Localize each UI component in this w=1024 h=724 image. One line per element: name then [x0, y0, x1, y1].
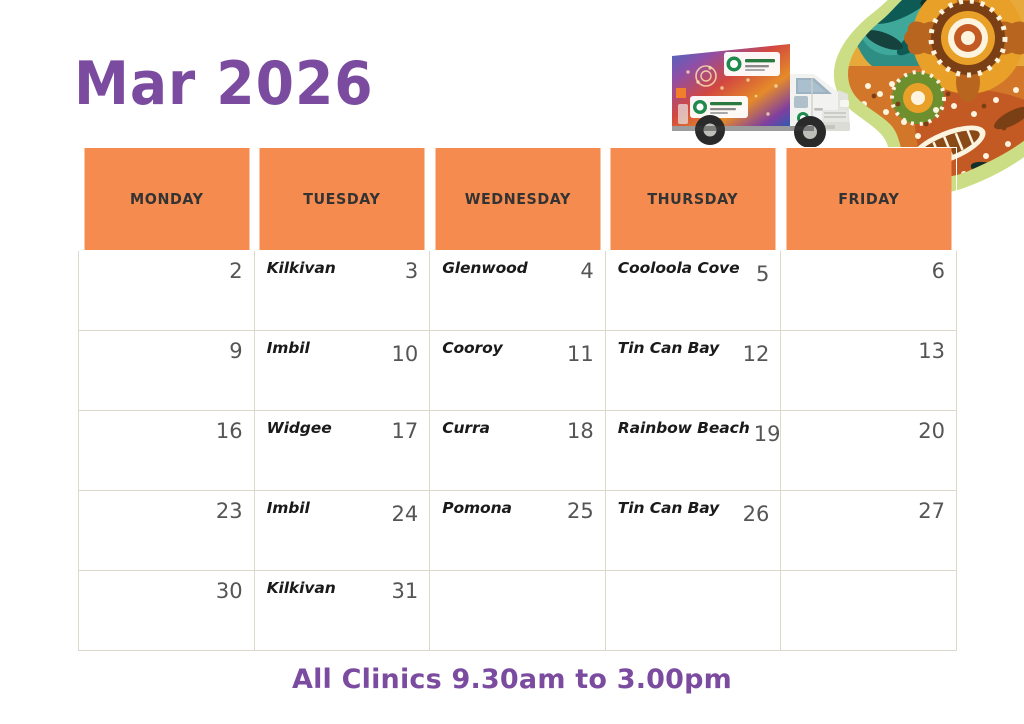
weekday-header-row: MONDAY TUESDAY WEDNESDAY THURSDAY FRIDAY: [79, 148, 957, 251]
weekday-header-wednesday: WEDNESDAY: [434, 148, 601, 251]
page-title: Mar 2026: [74, 54, 374, 114]
day-cell[interactable]: 9: [79, 331, 255, 411]
weekday-header-monday: MONDAY: [83, 148, 250, 251]
weekday-header-thursday: THURSDAY: [610, 148, 777, 251]
day-number: 12: [743, 340, 770, 365]
day-cell[interactable]: Imbil 24: [254, 491, 430, 571]
calendar-week-row: 30 Kilkivan 31: [79, 571, 957, 651]
day-event-label: Kilkivan: [267, 580, 336, 597]
day-number: 18: [567, 420, 594, 442]
day-cell[interactable]: Rainbow Beach 19: [605, 411, 781, 491]
day-event-label: Kilkivan: [267, 260, 336, 277]
day-number: 11: [567, 340, 594, 365]
mobile-clinic-truck-image: [662, 22, 862, 162]
day-event-label: Cooroy: [442, 340, 502, 357]
day-cell[interactable]: Tin Can Bay 26: [605, 491, 781, 571]
calendar-page: Mar 2026 MONDAY TUESDAY WEDNESDAY THURSD…: [0, 0, 1024, 724]
day-cell[interactable]: Curra 18: [430, 411, 606, 491]
day-cell[interactable]: Widgee 17: [254, 411, 430, 491]
day-event-label: Pomona: [442, 500, 512, 517]
day-cell[interactable]: 20: [781, 411, 957, 491]
day-cell[interactable]: Imbil 10: [254, 331, 430, 411]
day-number: 19: [754, 420, 781, 445]
calendar-grid: MONDAY TUESDAY WEDNESDAY THURSDAY FRIDAY…: [78, 147, 957, 651]
day-number: 2: [229, 260, 242, 282]
weekday-header-friday: FRIDAY: [785, 148, 952, 251]
day-number: 9: [229, 340, 242, 362]
day-number: 3: [405, 260, 418, 282]
day-number: 5: [756, 260, 769, 285]
day-number: 13: [918, 340, 945, 362]
day-number: 10: [391, 340, 418, 365]
day-number: 17: [391, 420, 418, 442]
day-number: 20: [918, 420, 945, 442]
day-cell[interactable]: Cooloola Cove 5: [605, 251, 781, 331]
day-cell[interactable]: 2: [79, 251, 255, 331]
day-cell[interactable]: 16: [79, 411, 255, 491]
day-number: 27: [918, 500, 945, 522]
day-cell[interactable]: 6: [781, 251, 957, 331]
weekday-header-tuesday: TUESDAY: [258, 148, 425, 251]
day-event-label: Glenwood: [442, 260, 528, 277]
day-number: 30: [216, 580, 243, 602]
day-cell[interactable]: Cooroy 11: [430, 331, 606, 411]
clinic-hours-note: All Clinics 9.30am to 3.00pm: [0, 664, 1024, 695]
day-cell[interactable]: 27: [781, 491, 957, 571]
day-number: 25: [567, 500, 594, 522]
day-cell[interactable]: 13: [781, 331, 957, 411]
calendar-week-row: 23 Imbil 24 Pomona 25: [79, 491, 957, 571]
day-cell[interactable]: [430, 571, 606, 651]
day-number: 16: [216, 420, 243, 442]
day-event-label: Rainbow Beach: [618, 420, 750, 437]
calendar-week-row: 2 Kilkivan 3 Glenwood 4: [79, 251, 957, 331]
day-event-label: Imbil: [267, 340, 310, 357]
day-cell[interactable]: Tin Can Bay 12: [605, 331, 781, 411]
day-event-label: Tin Can Bay: [618, 340, 719, 357]
day-event-label: Cooloola Cove: [618, 260, 740, 277]
day-cell[interactable]: Kilkivan 3: [254, 251, 430, 331]
day-event-label: Widgee: [267, 420, 332, 437]
day-number: 24: [391, 500, 418, 525]
day-cell[interactable]: [605, 571, 781, 651]
day-cell[interactable]: Kilkivan 31: [254, 571, 430, 651]
day-number: 31: [391, 580, 418, 602]
day-event-label: Imbil: [267, 500, 310, 517]
day-cell[interactable]: Pomona 25: [430, 491, 606, 571]
calendar-week-row: 16 Widgee 17 Curra 18: [79, 411, 957, 491]
day-cell[interactable]: 30: [79, 571, 255, 651]
day-number: 26: [743, 500, 770, 525]
calendar-week-row: 9 Imbil 10 Cooroy 11: [79, 331, 957, 411]
day-event-label: Curra: [442, 420, 490, 437]
day-cell[interactable]: [781, 571, 957, 651]
day-cell[interactable]: Glenwood 4: [430, 251, 606, 331]
day-number: 6: [932, 260, 945, 282]
day-number: 4: [580, 260, 593, 282]
day-cell[interactable]: 23: [79, 491, 255, 571]
day-event-label: Tin Can Bay: [618, 500, 719, 517]
day-number: 23: [216, 500, 243, 522]
